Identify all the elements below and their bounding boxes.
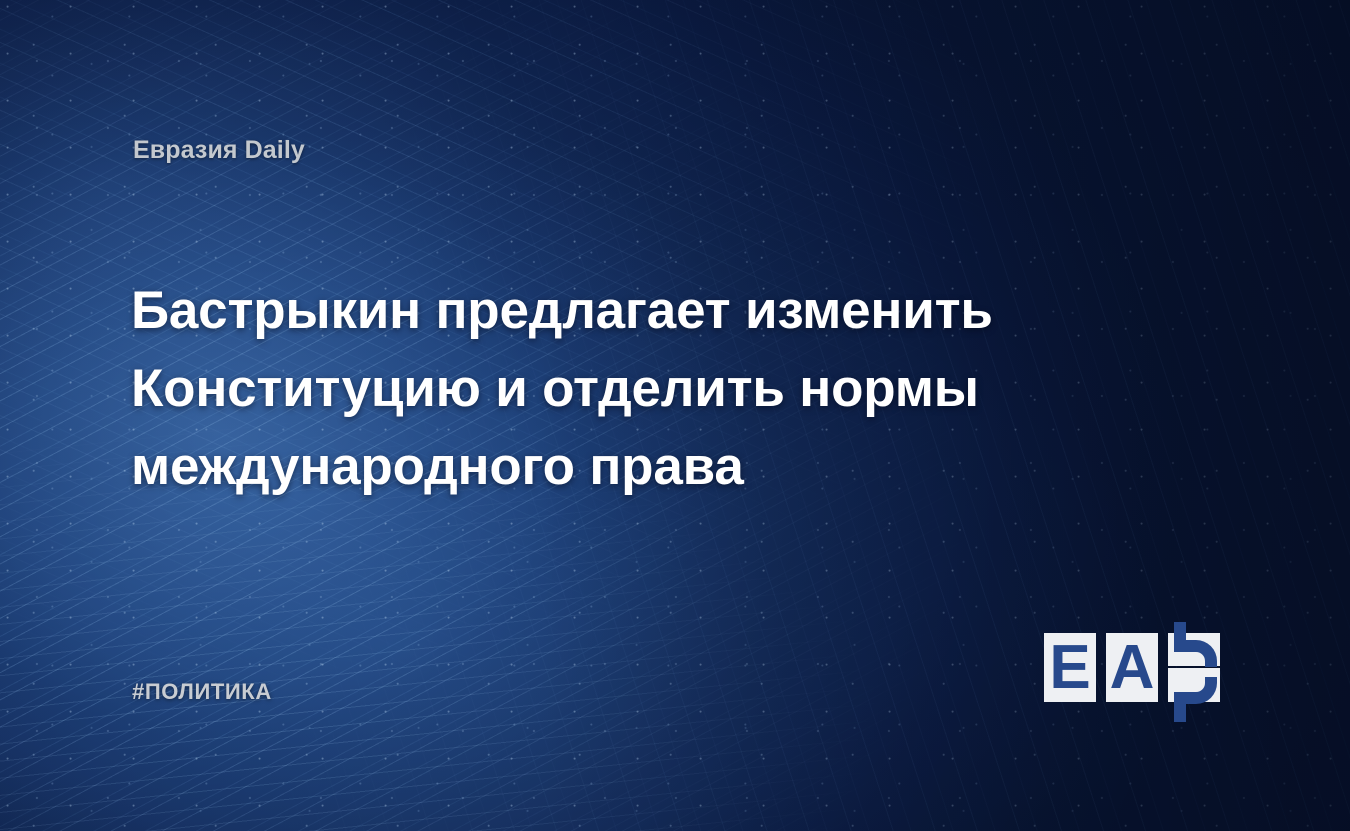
ead-logo: E A bbox=[1044, 612, 1224, 724]
logo-letter-a: A bbox=[1106, 633, 1158, 702]
category-hashtag[interactable]: #ПОЛИТИКА bbox=[132, 679, 272, 705]
logo-letter-e: E bbox=[1044, 633, 1096, 702]
headline-line-1: Бастрыкин предлагает изменить bbox=[131, 272, 1061, 350]
page-title: Бастрыкин предлагает изменить Конституци… bbox=[131, 272, 1061, 506]
news-card: Евразия Daily Бастрыкин предлагает измен… bbox=[0, 0, 1350, 831]
brand-name: Евразия Daily bbox=[133, 136, 305, 165]
headline-line-2: Конституцию и отделить нормы bbox=[131, 350, 1061, 428]
card-content: Евразия Daily Бастрыкин предлагает измен… bbox=[0, 0, 1350, 831]
headline-line-3: международного права bbox=[131, 428, 1061, 506]
logo-letter-d-icon bbox=[1162, 612, 1237, 724]
